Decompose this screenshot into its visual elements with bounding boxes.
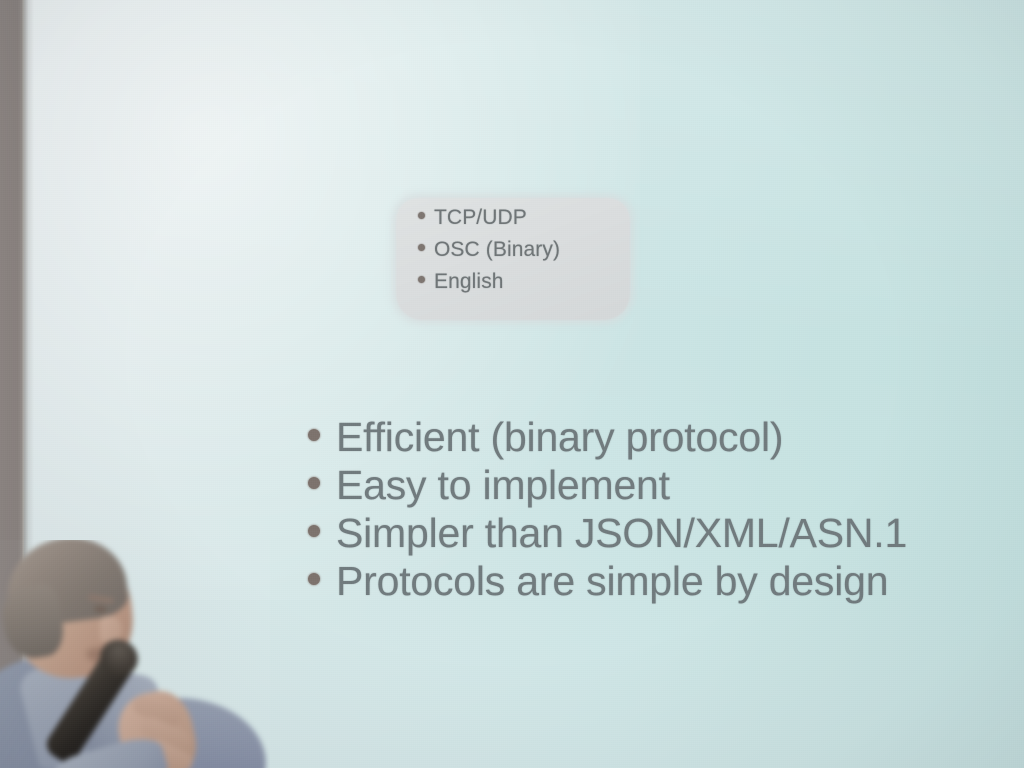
inset-list-item: OSC (Binary): [418, 238, 638, 270]
inset-list-item-label: TCP/UDP: [434, 206, 527, 230]
bullet-dot-icon: [418, 212, 425, 219]
main-bullet-list: Efficient (binary protocol) Easy to impl…: [308, 414, 948, 606]
main-list-item-label: Protocols are simple by design: [336, 558, 888, 605]
slide-photo-frame: TCP/UDP OSC (Binary) English Efficient (…: [0, 0, 1024, 768]
inset-list-item-label: OSC (Binary): [434, 238, 560, 262]
bullet-dot-icon: [418, 276, 425, 283]
main-list-item: Efficient (binary protocol): [308, 414, 948, 462]
bullet-dot-icon: [308, 525, 320, 537]
screen-edge-band: [0, 0, 24, 768]
bullet-dot-icon: [418, 244, 425, 251]
main-list-item-label: Simpler than JSON/XML/ASN.1: [336, 510, 907, 557]
bullet-dot-icon: [308, 573, 320, 585]
main-list-item: Protocols are simple by design: [308, 558, 948, 606]
bullet-dot-icon: [308, 477, 320, 489]
main-list-item-label: Efficient (binary protocol): [336, 414, 783, 461]
inset-list-item: English: [418, 270, 638, 302]
screen-edge-shadow: [24, 0, 34, 768]
main-list-item: Easy to implement: [308, 462, 948, 510]
inset-list-item: TCP/UDP: [418, 206, 638, 238]
projector-vertical-falloff: [0, 0, 1024, 768]
bullet-dot-icon: [308, 429, 320, 441]
inset-bullet-list: TCP/UDP OSC (Binary) English: [418, 206, 638, 302]
main-list-item: Simpler than JSON/XML/ASN.1: [308, 510, 948, 558]
inset-list-item-label: English: [434, 270, 504, 294]
main-list-item-label: Easy to implement: [336, 462, 670, 509]
